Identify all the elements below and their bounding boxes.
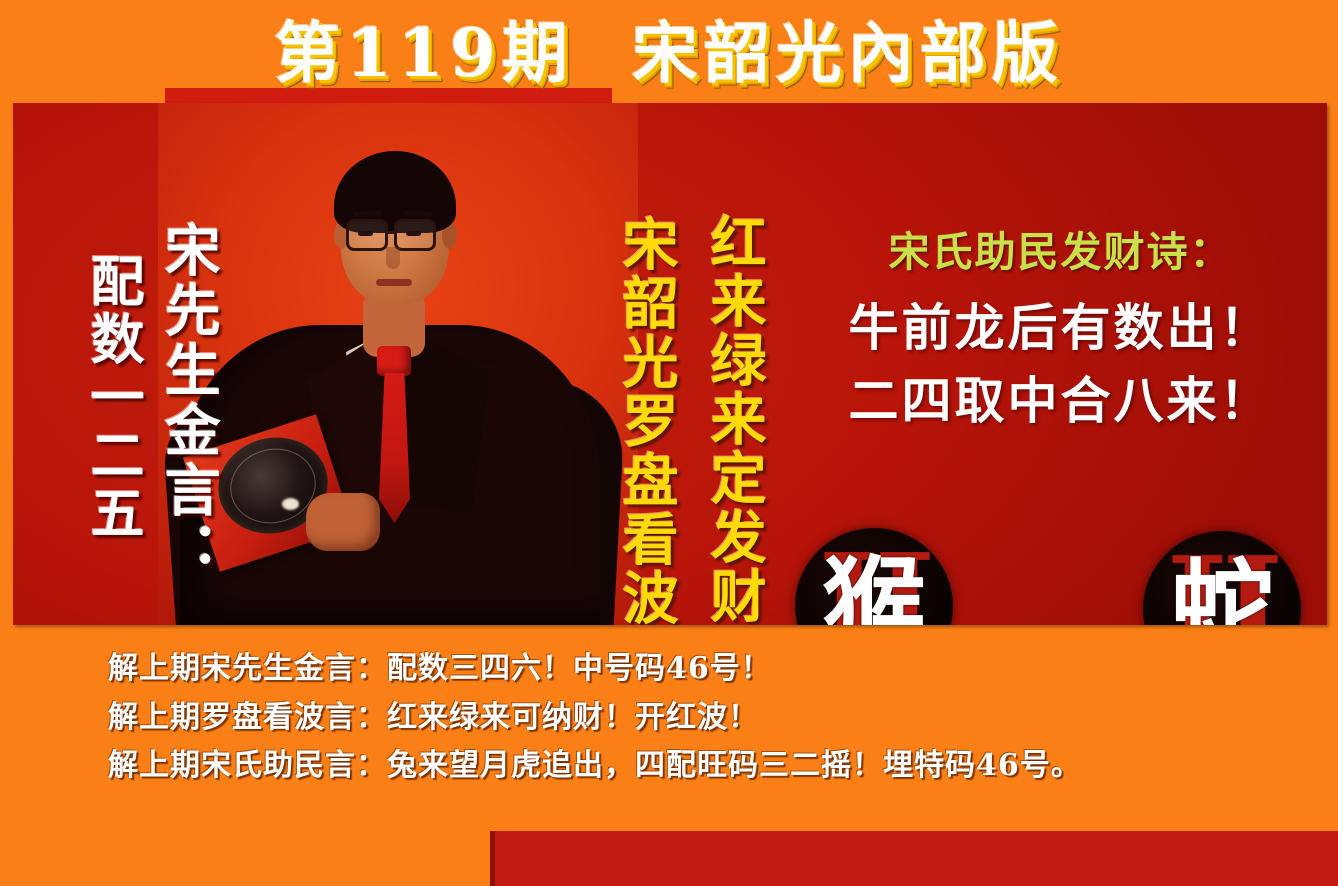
previous-issue-explanations: 解上期宋先生金言：配数三四六！中号码46号！ 解上期罗盘看波言：红来绿来可纳财！… [0, 645, 1338, 791]
main-red-panel: 宋先生金言： 配数一二五 宋韶光罗盘看波诗： 红来绿来定发财 宋氏助民发财诗： … [13, 103, 1327, 625]
fortune-poem-block: 宋氏助民发财诗： 牛前龙后有数出！ 二四取中合八来！ [788, 218, 1327, 437]
mouth [376, 279, 412, 286]
poem-line-2: 二四取中合八来！ [788, 365, 1327, 438]
eye-left [358, 231, 373, 236]
page-title: 第119期 宋韶光內部版 [274, 0, 1064, 96]
necktie [379, 373, 410, 523]
column-luopan-wave-poem-verse: 红来绿来定发财 [705, 213, 762, 625]
luopan-highlight [282, 498, 299, 510]
explanation-line-2: 解上期罗盘看波言：红来绿来可纳财！开红波！ [108, 694, 1338, 743]
hand [306, 493, 380, 551]
poem-title: 宋氏助民发财诗： [788, 218, 1327, 278]
bottom-red-bar [490, 831, 1338, 886]
poem-line-1: 牛前龙后有数出！ [788, 292, 1327, 365]
column-pair-numbers: 配数一二五 [85, 253, 141, 543]
nose [386, 247, 400, 269]
zodiac-badge-snake[interactable]: II 蛇 [1143, 531, 1301, 625]
bottom-red-bar-edge [490, 831, 495, 886]
column-mr-song-golden-words: 宋先生金言： [159, 221, 217, 581]
explanation-line-1: 解上期宋先生金言：配数三四六！中号码46号！ [108, 645, 1338, 694]
column-luopan-wave-poem-title: 宋韶光罗盘看波诗： [617, 215, 674, 625]
eyeglass-bridge [387, 231, 397, 234]
zodiac-character: 蛇 [1170, 557, 1274, 625]
title-bar: 第119期 宋韶光內部版 [0, 0, 1338, 95]
eye-right [406, 231, 421, 236]
portrait-photo [158, 103, 638, 625]
zodiac-character: 猴 [822, 554, 926, 625]
zodiac-badge-monkey[interactable]: II 猴 [795, 528, 953, 625]
explanation-line-3: 解上期宋氏助民言：兔来望月虎追出，四配旺码三二摇！埋特码46号。 [108, 742, 1338, 791]
poster-root: 第119期 宋韶光內部版 [0, 0, 1338, 886]
necktie-knot [377, 346, 411, 376]
